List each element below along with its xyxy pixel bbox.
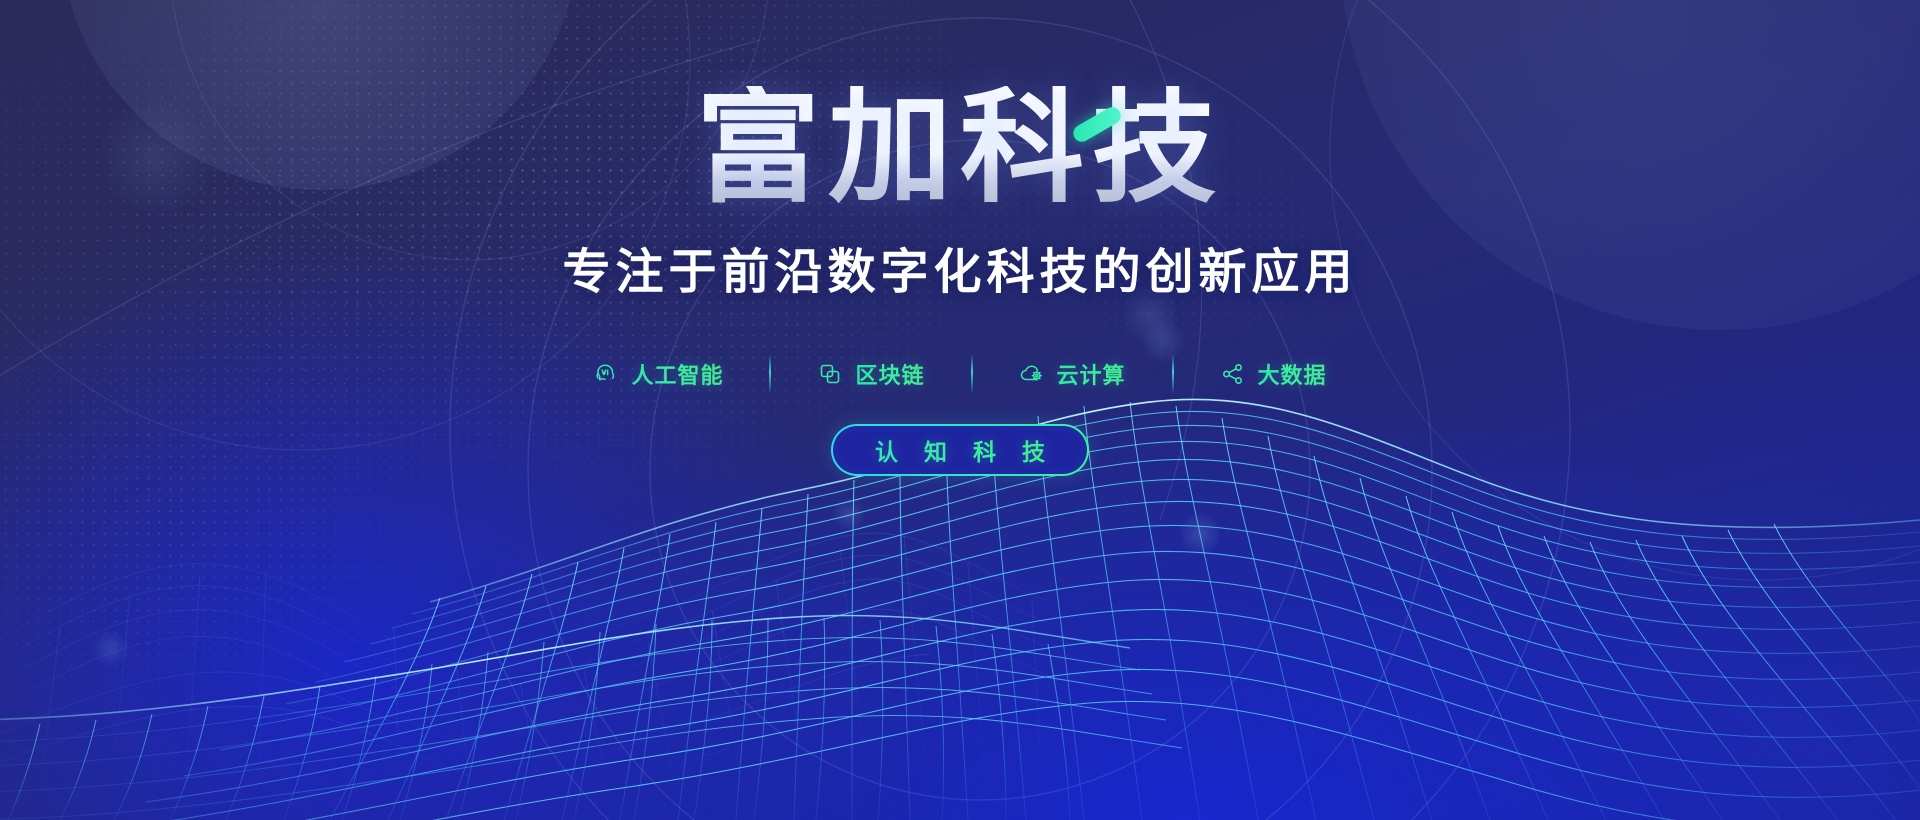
feature-tag-label: 人工智能 bbox=[631, 358, 723, 390]
hero-subtitle: 专注于前沿数字化科技的创新应用 bbox=[562, 232, 1357, 302]
feature-tag-list: 人工智能 区块链 bbox=[547, 354, 1372, 394]
ai-brain-icon bbox=[593, 361, 619, 387]
cta-button-label: 认 知 科 技 bbox=[866, 433, 1054, 467]
feature-tag-bigdata[interactable]: 大数据 bbox=[1174, 358, 1373, 390]
brand-logo: 富加科技 bbox=[696, 86, 1224, 210]
hero-banner: 富加科技 专注于前沿数字化科技的创新应用 人工智能 bbox=[0, 0, 1920, 820]
share-nodes-icon bbox=[1220, 361, 1246, 387]
feature-tag-blockchain[interactable]: 区块链 bbox=[771, 358, 970, 390]
blockchain-icon bbox=[817, 361, 843, 387]
cloud-gear-icon bbox=[1019, 361, 1045, 387]
feature-tag-label: 大数据 bbox=[1258, 358, 1327, 390]
brand-logo-text: 富加科技 bbox=[696, 86, 1224, 210]
hero-content: 富加科技 专注于前沿数字化科技的创新应用 人工智能 bbox=[0, 0, 1920, 820]
cta-button[interactable]: 认 知 科 技 bbox=[831, 424, 1089, 476]
feature-tag-cloud[interactable]: 云计算 bbox=[973, 358, 1172, 390]
feature-tag-ai[interactable]: 人工智能 bbox=[547, 358, 769, 390]
feature-tag-label: 区块链 bbox=[855, 358, 924, 390]
feature-tag-label: 云计算 bbox=[1057, 358, 1126, 390]
